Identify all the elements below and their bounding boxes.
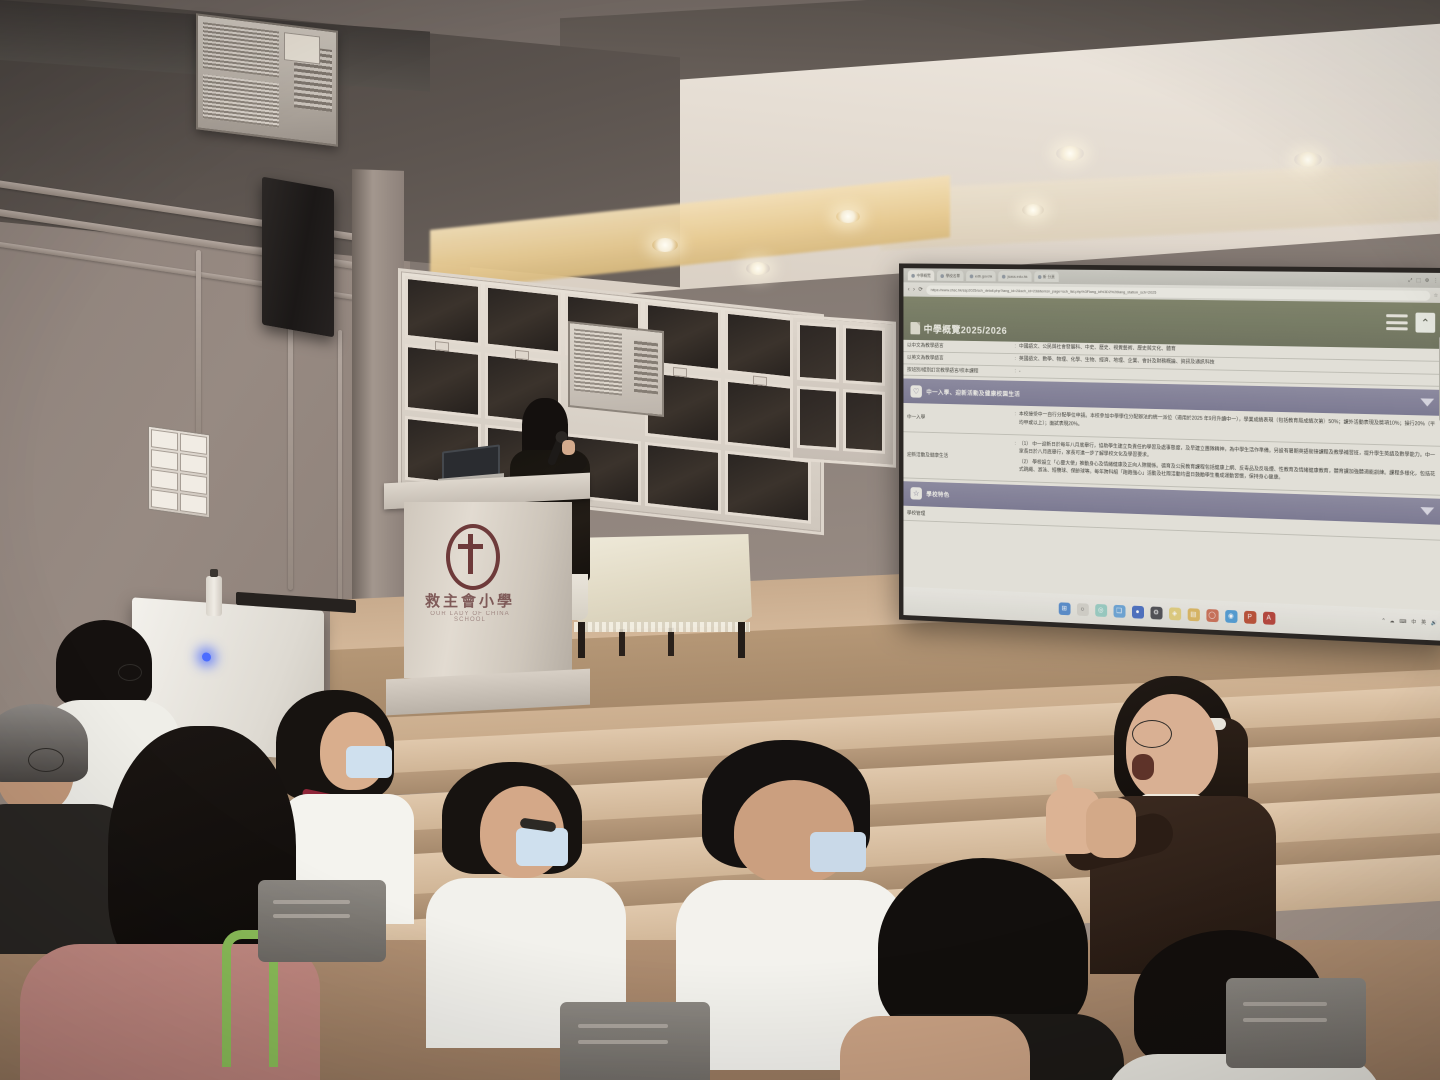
hand-gesture bbox=[1086, 798, 1136, 858]
browser-window-controls: ⤢ ⬚ ⚙ ⋮ bbox=[1408, 277, 1438, 283]
chrome-icon[interactable]: ◉ bbox=[1225, 609, 1237, 622]
socket[interactable] bbox=[151, 489, 178, 511]
lectern-podium: 救主會小學 OUR LADY OF CHINA SCHOOL bbox=[398, 478, 574, 710]
tray-chevron-icon[interactable]: ^ bbox=[1382, 618, 1384, 624]
presenter-hand bbox=[562, 440, 575, 455]
window-pane bbox=[485, 284, 561, 354]
audience-member-student bbox=[432, 762, 612, 1042]
tab-label: edb.gov.hk bbox=[975, 274, 992, 279]
window-pane bbox=[645, 442, 721, 514]
socket[interactable] bbox=[180, 493, 207, 515]
reload-icon[interactable]: ⟳ bbox=[918, 286, 922, 293]
office-icon[interactable]: ◯ bbox=[1206, 609, 1218, 622]
hand-sanitizer-bottle bbox=[206, 576, 222, 616]
ceiling-downlight bbox=[1294, 152, 1322, 167]
projection-screen: 中學概覽 學校名單 edb.gov.hk jsass.edu.hk 新 分頁 bbox=[899, 263, 1440, 646]
webpage-content: 中學概覽2025/2026 ⌃ 以中文為教學語言 : 中國語文、公民與社會發展科… bbox=[903, 296, 1440, 610]
mouth bbox=[1132, 754, 1154, 780]
ac-grill bbox=[203, 22, 279, 77]
window-latch[interactable] bbox=[515, 350, 529, 361]
tab-label: 中學概覽 bbox=[917, 273, 931, 279]
page-title-text: 中學概覽2025/2026 bbox=[924, 321, 1007, 337]
head bbox=[1126, 694, 1218, 802]
browser-tab-new[interactable]: 新 分頁 bbox=[1034, 271, 1059, 282]
ac-grill bbox=[574, 329, 622, 396]
ceiling-downlight bbox=[652, 238, 678, 252]
section-title: 學校特色 bbox=[926, 490, 949, 499]
back-icon[interactable]: ‹ bbox=[908, 287, 910, 293]
row-separator: : bbox=[1012, 406, 1019, 434]
row-label: 按班別/組別訂定教學語言/校本課程 bbox=[903, 364, 1011, 377]
tray-volume-icon[interactable]: 🔊 bbox=[1431, 620, 1437, 626]
explorer-icon[interactable]: ▤ bbox=[1187, 608, 1199, 621]
tray-keyboard-icon[interactable]: ⌨ bbox=[1399, 618, 1406, 624]
ceiling-downlight bbox=[1022, 204, 1044, 216]
row-separator: : bbox=[1012, 366, 1019, 374]
section-title: 中一入學、迎新活動及健康校園生活 bbox=[926, 387, 1020, 398]
socket[interactable] bbox=[151, 469, 178, 491]
row-label: 迎新活動及健康生活 bbox=[903, 432, 1011, 481]
row-separator: : bbox=[1012, 354, 1019, 362]
wall-conduit-vertical bbox=[338, 330, 342, 630]
school-name-chinese: 救主會小學 bbox=[418, 590, 522, 611]
window-wall-right bbox=[790, 314, 896, 467]
chevron-down-icon[interactable] bbox=[1420, 399, 1434, 407]
window-pane bbox=[405, 276, 481, 346]
wall-conduit-vertical bbox=[196, 250, 201, 450]
chevron-up-icon[interactable]: ⌃ bbox=[1416, 313, 1436, 333]
ac-side-vent bbox=[634, 340, 658, 395]
window-pane bbox=[797, 322, 839, 383]
bookmark-star-icon[interactable]: ☆ bbox=[1434, 292, 1438, 298]
row-separator: : bbox=[1012, 342, 1019, 350]
document-icon bbox=[910, 322, 920, 334]
chair-back bbox=[560, 1002, 710, 1080]
ac-label bbox=[284, 32, 320, 64]
acrobat-icon[interactable]: A bbox=[1263, 611, 1275, 624]
favicon-icon bbox=[970, 274, 974, 278]
glasses-icon bbox=[1132, 720, 1172, 748]
system-tray[interactable]: ^ ☁ ⌨ 中 英 🔊 bbox=[1382, 617, 1437, 626]
window-pane bbox=[843, 389, 885, 454]
paragraph: 本校接受中一自行分配學位申請。本校參加中學學位分配辦法的統一派位（適用於2025… bbox=[1019, 411, 1435, 438]
store-icon[interactable]: ◈ bbox=[1169, 607, 1181, 620]
window-pane bbox=[725, 451, 811, 524]
shield-icon: ♡ bbox=[910, 385, 921, 398]
window-latch[interactable] bbox=[673, 367, 687, 378]
socket[interactable] bbox=[180, 433, 207, 455]
star-icon: ☆ bbox=[910, 487, 921, 500]
audience-member-student bbox=[686, 740, 896, 1040]
copilot-icon[interactable]: ◎ bbox=[1095, 603, 1107, 616]
glasses-icon bbox=[118, 664, 142, 681]
more-icon[interactable]: ⋮ bbox=[1433, 277, 1438, 283]
school-logo-icon bbox=[446, 524, 500, 590]
page-header-bar: 中學概覽2025/2026 ⌃ bbox=[903, 296, 1440, 348]
ceiling-downlight bbox=[836, 210, 860, 223]
face-mask bbox=[810, 832, 866, 872]
tab-label: jsass.edu.hk bbox=[1008, 274, 1028, 279]
row-label: 以中文為教學語言 bbox=[903, 340, 1011, 352]
tray-ime-english[interactable]: 英 bbox=[1421, 619, 1426, 626]
socket[interactable] bbox=[180, 453, 207, 475]
powerpoint-icon[interactable]: P bbox=[1244, 610, 1256, 623]
page-title: 中學概覽2025/2026 bbox=[910, 321, 1007, 337]
tab-label: 學校名單 bbox=[946, 273, 960, 279]
row-label: 中一入學 bbox=[903, 403, 1011, 433]
row-body: （1） 中一迎新日於每年八月底舉行，協助學生建立負責任的學習及處事態度，及早建立… bbox=[1019, 435, 1440, 495]
sanitizer-pump bbox=[210, 569, 218, 577]
window-latch[interactable] bbox=[435, 341, 449, 352]
window-pane bbox=[797, 386, 839, 451]
favicon-icon bbox=[1037, 275, 1041, 279]
chair-back bbox=[258, 880, 386, 962]
socket[interactable] bbox=[151, 449, 178, 471]
tablecloth bbox=[572, 534, 752, 630]
settings-icon[interactable]: ⚙ bbox=[1425, 277, 1429, 283]
browser-tab[interactable]: edb.gov.hk bbox=[966, 271, 996, 282]
audience-member-arm bbox=[840, 1016, 1030, 1080]
favicon-icon bbox=[911, 273, 915, 277]
forward-icon[interactable]: › bbox=[913, 287, 915, 293]
air-conditioner-unit-upper-left bbox=[196, 13, 338, 146]
socket[interactable] bbox=[151, 429, 178, 451]
side-table bbox=[572, 534, 752, 654]
hair bbox=[56, 620, 152, 706]
zoom-icon[interactable]: ⤢ bbox=[1408, 277, 1412, 283]
favicon-icon bbox=[940, 274, 944, 278]
browser-tab[interactable]: jsass.edu.hk bbox=[999, 271, 1032, 282]
face-mask bbox=[346, 746, 392, 778]
edge-icon[interactable]: ● bbox=[1132, 605, 1144, 618]
wall-speaker bbox=[262, 177, 334, 338]
ceiling-downlight bbox=[1056, 146, 1084, 161]
socket[interactable] bbox=[180, 473, 207, 495]
start-icon[interactable]: ⊞ bbox=[1058, 602, 1070, 615]
browser-tab[interactable]: 中學概覽 bbox=[908, 270, 934, 281]
electrical-socket-panel[interactable] bbox=[148, 426, 210, 519]
chevron-down-icon[interactable] bbox=[1420, 507, 1434, 515]
collections-icon[interactable]: ⬚ bbox=[1416, 277, 1421, 283]
photo-scene: 救主會小學 OUR LADY OF CHINA SCHOOL 中學概覽 學校名單… bbox=[0, 0, 1440, 1080]
ac-grill bbox=[203, 74, 279, 127]
settings-icon[interactable]: ⚙ bbox=[1150, 606, 1162, 619]
wall-conduit-vertical bbox=[288, 300, 293, 590]
search-icon[interactable]: ○ bbox=[1076, 603, 1088, 616]
table-leg bbox=[738, 622, 745, 658]
tablecloth-lace bbox=[574, 622, 750, 632]
window-latch[interactable] bbox=[753, 376, 767, 387]
purifier-led bbox=[202, 652, 211, 662]
structural-pillar bbox=[352, 169, 404, 641]
browser-tab[interactable]: 學校名單 bbox=[937, 270, 964, 281]
face-mask bbox=[516, 828, 568, 866]
chair-back bbox=[1226, 978, 1366, 1068]
window-pane bbox=[405, 344, 481, 418]
school-name-english: OUR LADY OF CHINA SCHOOL bbox=[414, 611, 526, 623]
glasses-icon bbox=[28, 748, 64, 772]
tray-ime-chinese[interactable]: 中 bbox=[1411, 618, 1416, 625]
tab-label: 新 分頁 bbox=[1043, 274, 1055, 280]
favicon-icon bbox=[1002, 274, 1006, 278]
row-separator: : bbox=[1012, 435, 1019, 481]
row-label: 以英文為教學語言 bbox=[903, 352, 1011, 364]
hamburger-menu-icon[interactable] bbox=[1386, 314, 1407, 330]
window-pane bbox=[843, 325, 885, 386]
ceiling-downlight bbox=[746, 262, 770, 275]
tray-cloud-icon[interactable]: ☁ bbox=[1390, 618, 1395, 624]
projected-browser-window: 中學概覽 學校名單 edb.gov.hk jsass.edu.hk 新 分頁 bbox=[903, 268, 1440, 641]
task-view-icon[interactable]: ❑ bbox=[1113, 604, 1125, 617]
